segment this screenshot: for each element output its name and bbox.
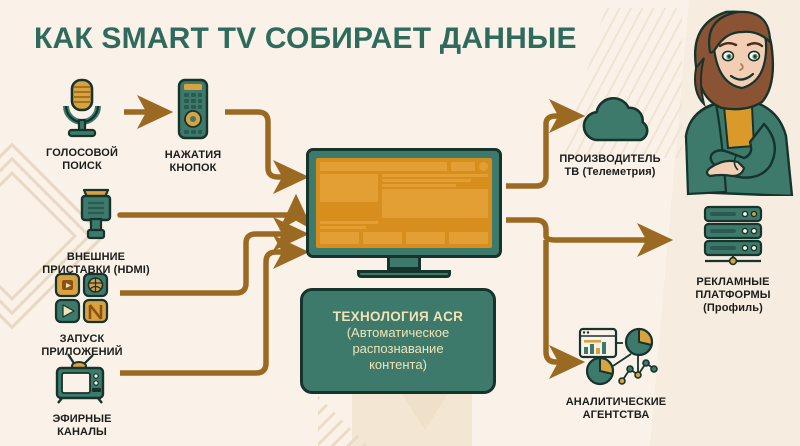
tv-stand-neck	[387, 258, 421, 270]
output-node-analytics[interactable]: АНАЛИТИЧЕСКИЕ АГЕНТСТВА	[548, 325, 684, 422]
antenna-tv-icon	[53, 352, 111, 404]
tv-bezel	[306, 148, 502, 258]
output-label-ad-platforms: РЕКЛАМНЫЕ ПЛАТФОРМЫ (Профиль)	[665, 276, 800, 315]
acr-subtitle: (Автоматическое распознавание контента)	[347, 325, 450, 374]
tv-stand-base	[357, 270, 451, 278]
input-node-external-hdmi[interactable]: ВНЕШНИЕ ПРИСТАВКИ (HDMI)	[30, 186, 162, 277]
input-node-app-launch[interactable]: ЗАПУСК ПРИЛОЖЕНИЙ	[34, 272, 130, 359]
tv-remote-icon	[177, 78, 209, 140]
hdmi-connector-icon	[73, 186, 119, 242]
input-node-broadcast-tv[interactable]: ЭФИРНЫЕ КАНАЛЫ	[34, 352, 130, 439]
wire-tv-to-ad-platforms	[506, 220, 660, 240]
acr-technology-box: ТЕХНОЛОГИЯ ACR (Автоматическое распознав…	[300, 288, 496, 394]
output-label-analytics: АНАЛИТИЧЕСКИЕ АГЕНТСТВА	[548, 396, 684, 422]
input-node-voice-search[interactable]: ГОЛОСОВОЙ ПОИСК	[34, 78, 130, 173]
smart-tv-icon	[306, 148, 502, 272]
input-label-broadcast-tv: ЭФИРНЫЕ КАНАЛЫ	[34, 413, 130, 439]
app-grid-icon	[54, 272, 110, 324]
tv-screen	[316, 158, 492, 248]
input-node-button-presses[interactable]: НАЖАТИЯ КНОПОК	[145, 78, 241, 175]
acr-title: ТЕХНОЛОГИЯ ACR	[333, 309, 463, 324]
analytics-charts-icon	[576, 325, 668, 387]
output-node-ad-platforms[interactable]: РЕКЛАМНЫЕ ПЛАТФОРМЫ (Профиль)	[665, 205, 800, 315]
input-label-voice-search: ГОЛОСОВОЙ ПОИСК	[34, 147, 130, 173]
input-label-button-presses: НАЖАТИЯ КНОПОК	[145, 149, 241, 175]
infographic-canvas: КАК SMART TV СОБИРАЕТ ДАННЫЕ	[0, 0, 800, 446]
woman-pointing-illustration	[646, 0, 798, 196]
server-rack-icon	[695, 205, 771, 267]
microphone-icon	[59, 78, 105, 138]
